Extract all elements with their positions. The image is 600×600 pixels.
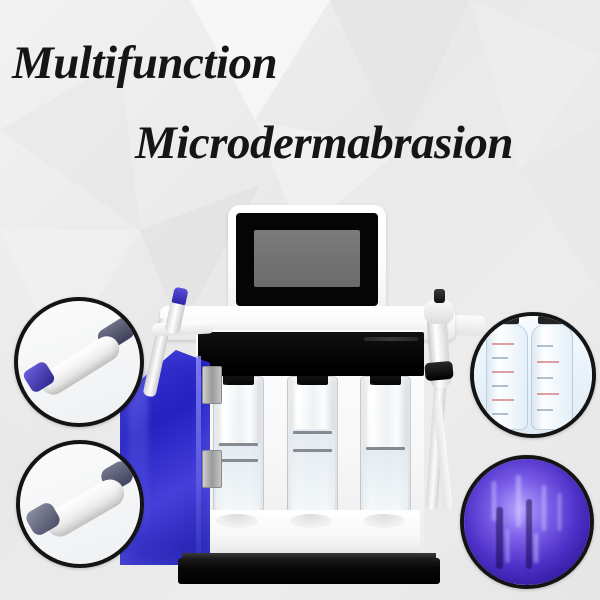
graduation-mark: [492, 399, 514, 401]
solution-bottle-3: [360, 376, 411, 520]
graduated-bottle-left: [486, 324, 528, 430]
led-streak: [492, 481, 496, 521]
graduation-mark: [537, 409, 553, 411]
solution-bottle-2: [287, 376, 338, 520]
graduation-mark: [537, 393, 559, 395]
indicator-strip: [364, 337, 418, 341]
bottle-liquid: [363, 447, 408, 515]
inset-handpiece-blue-tip[interactable]: [14, 297, 144, 427]
control-panel-band[interactable]: [198, 332, 424, 376]
led-rod-shadow: [526, 499, 532, 569]
graduated-bottle-cap: [493, 316, 519, 324]
product-image-canvas: Multifunction Microdermabrasion: [0, 0, 600, 600]
shelf-recess: [290, 514, 332, 528]
monitor-frame: [236, 213, 378, 306]
tank-hinge-upper: [202, 366, 222, 404]
tank-edge: [196, 356, 201, 561]
shelf-recess: [363, 514, 405, 528]
shelf-recess: [216, 514, 258, 528]
graduation-mark: [537, 345, 553, 347]
graduated-bottle-right: [531, 324, 573, 430]
graduation-mark: [492, 385, 508, 387]
right-handpiece-head: [424, 300, 454, 324]
bottle-liquid: [216, 443, 261, 515]
wand-body: [36, 332, 124, 400]
inset-handpiece-gray-tip[interactable]: [16, 440, 144, 568]
bottle-marking: [366, 447, 405, 450]
machine-base: [178, 558, 440, 584]
tank-hinge-lower: [202, 450, 222, 488]
inset-graduated-bottles[interactable]: [470, 312, 596, 438]
bottle-marking: [293, 449, 332, 452]
bottle-marking: [219, 459, 258, 462]
inset-led-chamber[interactable]: [460, 455, 594, 589]
right-handpiece-grip: [424, 361, 453, 381]
graduation-mark: [537, 361, 559, 363]
touch-screen-display[interactable]: [254, 230, 360, 287]
graduation-mark: [492, 343, 514, 345]
graduation-mark: [537, 377, 553, 379]
graduation-mark: [492, 371, 514, 373]
monitor-bezel: [228, 205, 386, 315]
led-streak: [506, 529, 509, 563]
bottle-liquid: [290, 429, 335, 515]
graduation-mark: [492, 357, 508, 359]
left-handpiece-blue-tip: [171, 287, 188, 306]
bottle-marking: [293, 431, 332, 434]
bottle-marking: [219, 443, 258, 446]
right-handpiece-nozzle: [434, 289, 445, 303]
led-streak: [558, 493, 561, 531]
graduated-bottle-cap: [538, 316, 564, 324]
led-rod-shadow: [496, 507, 503, 569]
led-streak: [534, 533, 538, 563]
led-streak: [516, 475, 521, 527]
led-streak: [542, 485, 546, 531]
graduation-mark: [492, 413, 508, 415]
